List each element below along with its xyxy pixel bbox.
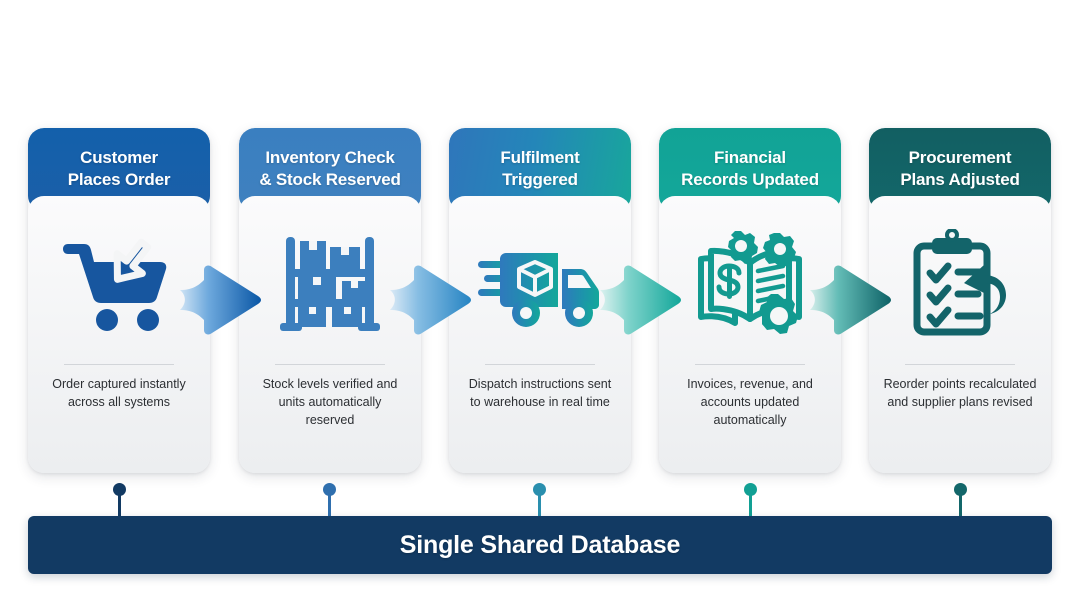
caption-divider-5: [905, 364, 1015, 365]
arrow-step1-to-step2: [178, 262, 264, 338]
step-title-4-line2: Records Updated: [681, 170, 819, 189]
step-title-3: Fulfilment Triggered: [500, 147, 579, 192]
arrow-step4-to-step5: [808, 262, 894, 338]
step-title-3-line2: Triggered: [502, 170, 578, 189]
single-shared-database-bar[interactable]: Single Shared Database: [28, 516, 1052, 574]
step-caption-3: Dispatch instructions sent to warehouse …: [449, 375, 631, 427]
process-steps-row: Customer Places Order: [0, 128, 1080, 473]
caption-divider-3: [485, 364, 595, 365]
step-title-5-line1: Procurement: [909, 148, 1012, 167]
arrow-step2-to-step3: [388, 262, 474, 338]
clipboard-checklist-return-icon: [869, 196, 1051, 364]
step-title-5: Procurement Plans Adjusted: [900, 147, 1019, 192]
step-title-4: Financial Records Updated: [681, 147, 819, 192]
step-caption-5: Reorder points recalculated and supplier…: [869, 375, 1051, 427]
step-title-4-line1: Financial: [714, 148, 786, 167]
caption-divider-1: [64, 364, 174, 365]
step-title-2-line1: Inventory Check: [265, 148, 394, 167]
arrow-step3-to-step4: [598, 262, 684, 338]
step-title-2: Inventory Check & Stock Reserved: [259, 147, 400, 192]
step-title-2-line2: & Stock Reserved: [259, 170, 400, 189]
flow-diagram-canvas: Customer Places Order: [0, 0, 1080, 603]
step-caption-1: Order captured instantly across all syst…: [28, 375, 210, 427]
caption-divider-4: [695, 364, 805, 365]
step-caption-2: Stock levels verified and units automati…: [239, 375, 421, 445]
step-title-5-line2: Plans Adjusted: [900, 170, 1019, 189]
caption-divider-2: [275, 364, 385, 365]
step-card-procurement-plans-adjusted[interactable]: Procurement Plans Adjusted: [869, 128, 1051, 473]
step-title-3-line1: Fulfilment: [500, 148, 579, 167]
step-title-1-line1: Customer: [80, 148, 158, 167]
step-body-5: Reorder points recalculated and supplier…: [869, 196, 1051, 473]
database-bar-label: Single Shared Database: [400, 531, 680, 560]
step-caption-4: Invoices, revenue, and accounts updated …: [659, 375, 841, 445]
step-title-1: Customer Places Order: [68, 147, 171, 192]
step-title-1-line2: Places Order: [68, 170, 171, 189]
